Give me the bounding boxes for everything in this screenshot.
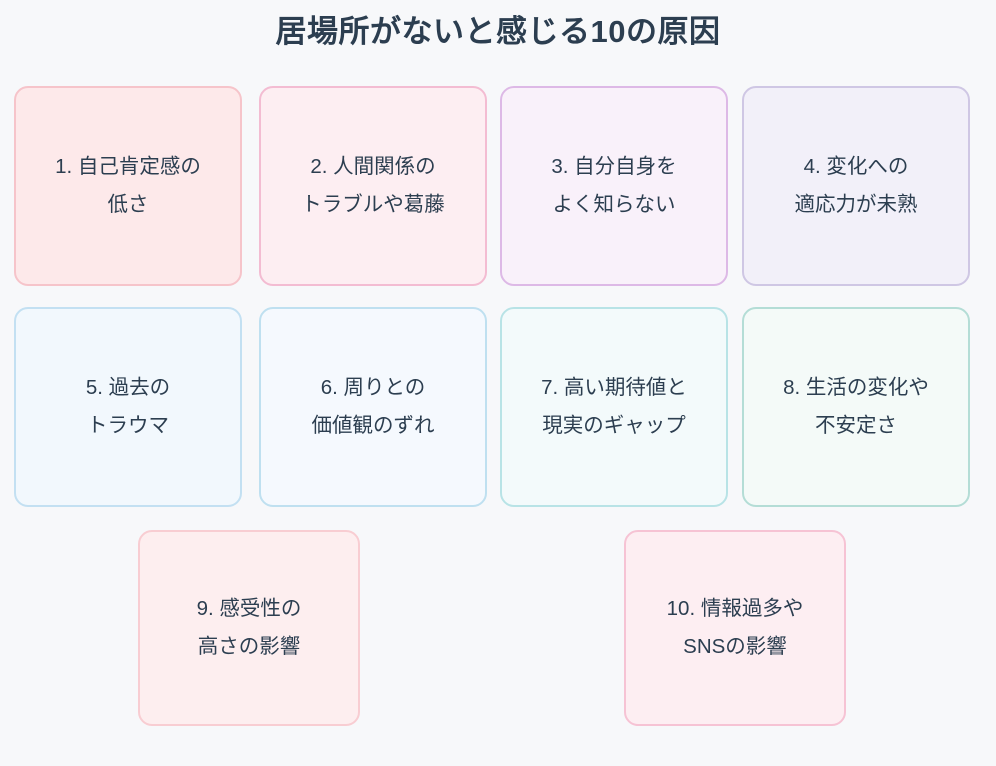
- cause-card-7: 7. 高い期待値と 現実のギャップ: [500, 307, 728, 507]
- cause-card-7-label: 7. 高い期待値と 現実のギャップ: [541, 369, 687, 445]
- infographic-root: 居場所がないと感じる10の原因 1. 自己肯定感の 低さ 2. 人間関係の トラ…: [0, 0, 996, 766]
- cause-card-10: 10. 情報過多や SNSの影響: [624, 530, 846, 726]
- cause-card-5-label: 5. 過去の トラウマ: [86, 369, 170, 445]
- cause-card-6: 6. 周りとの 価値観のずれ: [259, 307, 487, 507]
- cause-card-9-label: 9. 感受性の 高さの影響: [197, 590, 302, 666]
- cause-card-4: 4. 変化への 適応力が未熟: [742, 86, 970, 286]
- cause-card-1-label: 1. 自己肯定感の 低さ: [55, 148, 201, 224]
- cause-card-3: 3. 自分自身を よく知らない: [500, 86, 728, 286]
- cause-card-9: 9. 感受性の 高さの影響: [138, 530, 360, 726]
- cause-card-3-label: 3. 自分自身を よく知らない: [551, 148, 676, 224]
- cause-card-5: 5. 過去の トラウマ: [14, 307, 242, 507]
- cause-card-8: 8. 生活の変化や 不安定さ: [742, 307, 970, 507]
- cause-card-8-label: 8. 生活の変化や 不安定さ: [783, 369, 929, 445]
- cause-card-2: 2. 人間関係の トラブルや葛藤: [259, 86, 487, 286]
- cause-card-2-label: 2. 人間関係の トラブルや葛藤: [301, 148, 445, 224]
- cause-card-10-label: 10. 情報過多や SNSの影響: [667, 590, 804, 666]
- cause-card-4-label: 4. 変化への 適応力が未熟: [795, 148, 918, 224]
- cause-card-1: 1. 自己肯定感の 低さ: [14, 86, 242, 286]
- cause-card-6-label: 6. 周りとの 価値観のずれ: [312, 369, 435, 445]
- page-title: 居場所がないと感じる10の原因: [0, 12, 996, 52]
